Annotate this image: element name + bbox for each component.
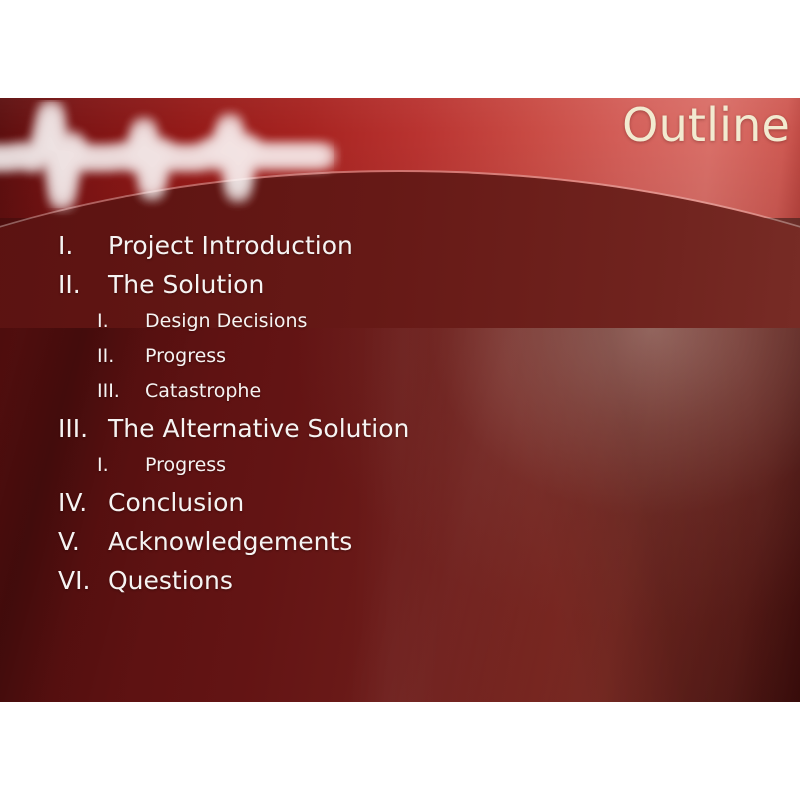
- list-item: II. Progress: [0, 339, 800, 374]
- list-item-label: Catastrophe: [145, 374, 261, 409]
- list-item-numeral: III.: [58, 409, 108, 448]
- list-item: IV. Conclusion: [0, 483, 800, 522]
- list-item-numeral: II.: [58, 265, 108, 304]
- list-item: I. Project Introduction: [0, 226, 800, 265]
- list-item: V. Acknowledgements: [0, 522, 800, 561]
- list-item-label: Progress: [145, 448, 226, 483]
- list-item-label: Design Decisions: [145, 304, 307, 339]
- list-item-numeral: III.: [97, 374, 145, 409]
- list-item-numeral: VI.: [58, 561, 108, 600]
- list-item: VI. Questions: [0, 561, 800, 600]
- list-item-label: Conclusion: [108, 483, 244, 522]
- list-item-label: Progress: [145, 339, 226, 374]
- list-item-numeral: V.: [58, 522, 108, 561]
- list-item-numeral: IV.: [58, 483, 108, 522]
- list-item: II. The Solution: [0, 265, 800, 304]
- list-item-label: The Solution: [108, 265, 264, 304]
- list-item-label: Questions: [108, 561, 233, 600]
- outline-list: I. Project Introduction II. The Solution…: [0, 226, 800, 600]
- list-item-numeral: I.: [97, 448, 145, 483]
- list-item-label: The Alternative Solution: [108, 409, 409, 448]
- presentation-stage: Outline I. Project Introduction II. The …: [0, 0, 800, 800]
- list-item-numeral: II.: [97, 339, 145, 374]
- page-title: Outline: [622, 102, 790, 148]
- list-item-label: Project Introduction: [108, 226, 353, 265]
- list-item-numeral: I.: [97, 304, 145, 339]
- list-item: III. Catastrophe: [0, 374, 800, 409]
- list-item-numeral: I.: [58, 226, 108, 265]
- list-item: I. Design Decisions: [0, 304, 800, 339]
- list-item: III. The Alternative Solution: [0, 409, 800, 448]
- list-item: I. Progress: [0, 448, 800, 483]
- slide: Outline I. Project Introduction II. The …: [0, 98, 800, 702]
- list-item-label: Acknowledgements: [108, 522, 352, 561]
